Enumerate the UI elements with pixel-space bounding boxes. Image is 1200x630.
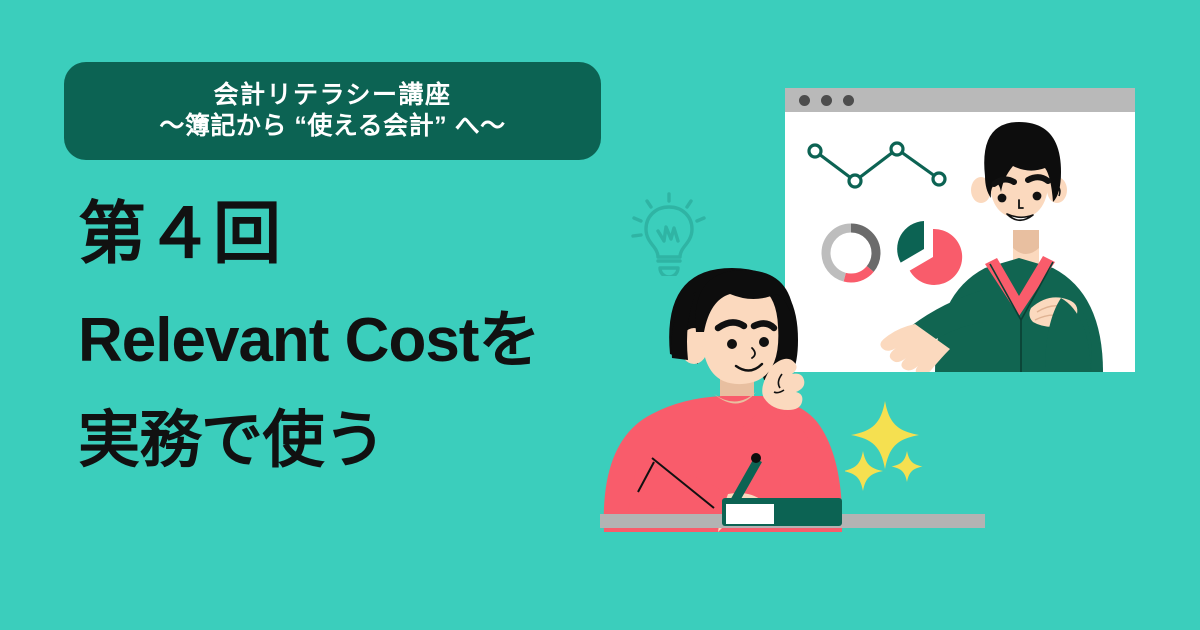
window-dot-3[interactable] xyxy=(843,95,854,106)
sparkle-icon-small-right xyxy=(892,451,923,482)
title-line-main: Relevant Costを xyxy=(78,308,539,374)
course-badge: 会計リテラシー講座 〜簿記から “使える会計” へ〜 xyxy=(64,62,601,160)
badge-line-1: 会計リテラシー講座 xyxy=(213,81,451,110)
browser-title-bar xyxy=(785,88,1135,112)
title-line-sub: 実務で使う xyxy=(78,408,539,474)
page-title: 第４回 Relevant Costを 実務で使う xyxy=(78,198,539,474)
sparkles-decoration xyxy=(845,395,945,495)
badge-line-2: 〜簿記から “使える会計” へ〜 xyxy=(159,112,505,141)
title-line-episode: 第４回 xyxy=(78,198,539,270)
poster-canvas: 会計リテラシー講座 〜簿記から “使える会計” へ〜 第４回 Relevant … xyxy=(0,0,1200,630)
window-dot-1[interactable] xyxy=(799,95,810,106)
sparkle-icon-small-left xyxy=(845,451,883,491)
notebook xyxy=(722,494,842,530)
window-dot-2[interactable] xyxy=(821,95,832,106)
